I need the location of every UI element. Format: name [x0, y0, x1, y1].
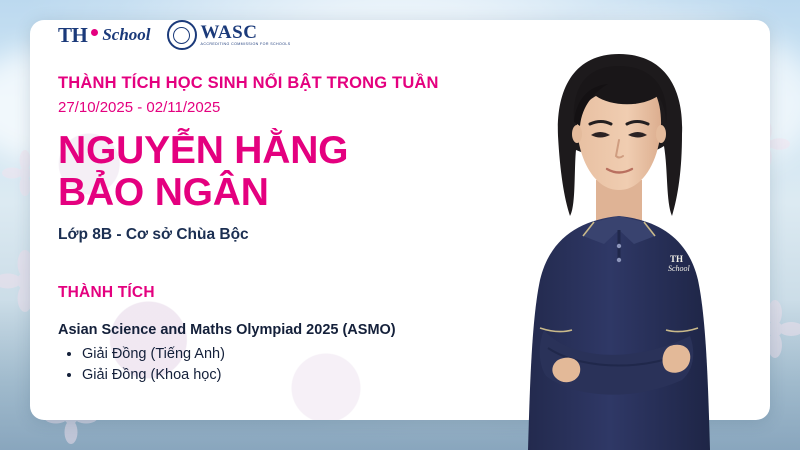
achievements-section-title: THÀNH TÍCH — [58, 284, 488, 302]
award-list: Giải Đồng (Tiếng Anh) Giải Đồng (Khoa họ… — [58, 344, 488, 386]
th-school-logo-dot-icon — [91, 29, 98, 36]
achievement-poster: TH School WASC ACCREDITING COMMISSION FO… — [0, 0, 800, 450]
wasc-logo-main: WASC — [201, 22, 258, 43]
wasc-logo: WASC ACCREDITING COMMISSION FOR SCHOOLS — [167, 20, 291, 50]
list-item: Giải Đồng (Tiếng Anh) — [82, 344, 488, 365]
logo-bar: TH School WASC ACCREDITING COMMISSION FO… — [58, 20, 291, 50]
award-title: Asian Science and Maths Olympiad 2025 (A… — [58, 322, 488, 338]
th-school-logo-word: School — [102, 25, 150, 45]
student-name-line1: NGUYỄN HẰNG — [58, 129, 348, 172]
student-class: Lớp 8B - Cơ sở Chùa Bộc — [58, 226, 488, 244]
poster-date-range: 27/10/2025 - 02/11/2025 — [58, 99, 488, 116]
wasc-seal-icon — [167, 20, 197, 50]
student-name-line2: BẢO NGÂN — [58, 171, 269, 214]
th-school-logo: TH School — [58, 23, 151, 48]
poster-eyebrow: THÀNH TÍCH HỌC SINH NỔI BẬT TRONG TUẦN — [58, 74, 488, 93]
wasc-logo-text: WASC ACCREDITING COMMISSION FOR SCHOOLS — [201, 23, 291, 47]
wasc-logo-sub: ACCREDITING COMMISSION FOR SCHOOLS — [201, 43, 291, 47]
list-item: Giải Đồng (Khoa học) — [82, 365, 488, 386]
main-content: THÀNH TÍCH HỌC SINH NỔI BẬT TRONG TUẦN 2… — [58, 74, 488, 386]
student-name: NGUYỄN HẰNG BẢO NGÂN — [58, 130, 488, 214]
th-school-logo-mark: TH — [58, 23, 87, 48]
